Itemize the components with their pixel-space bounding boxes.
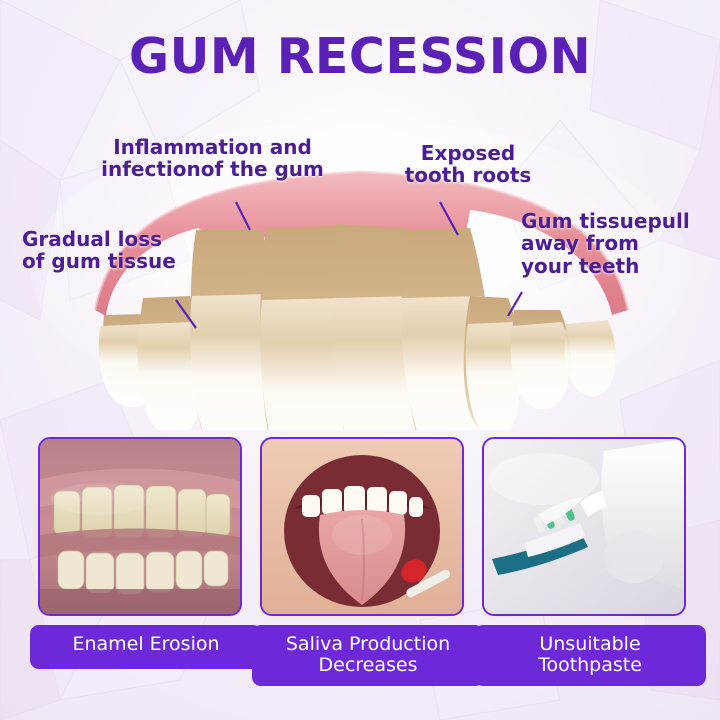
card-saliva-production-caption: Saliva Production Decreases [252,625,484,686]
enamel-erosion-photo [38,437,242,616]
page-title: GUM RECESSION [0,28,720,85]
card-enamel-erosion-caption: Enamel Erosion [30,625,262,669]
card-saliva-production[interactable]: Saliva Production Decreases [260,437,460,686]
callout-inflammation: Inflammation and infectionof the gum [80,136,345,181]
card-unsuitable-toothpaste[interactable]: Unsuitable Toothpaste [482,437,682,686]
infographic-page: GUM RECESSION [0,0,720,720]
card-unsuitable-toothpaste-caption: Unsuitable Toothpaste [474,625,706,686]
callout-gradual-loss: Gradual loss of gum tissue [22,228,207,273]
callout-exposed-roots: Exposed tooth roots [398,142,538,187]
cards-row: Enamel Erosion [0,437,720,707]
unsuitable-toothpaste-photo [482,437,686,616]
card-enamel-erosion[interactable]: Enamel Erosion [38,437,238,669]
saliva-production-photo [260,437,464,616]
callout-gum-pull-away: Gum tissuepull away from your teeth [521,210,711,277]
